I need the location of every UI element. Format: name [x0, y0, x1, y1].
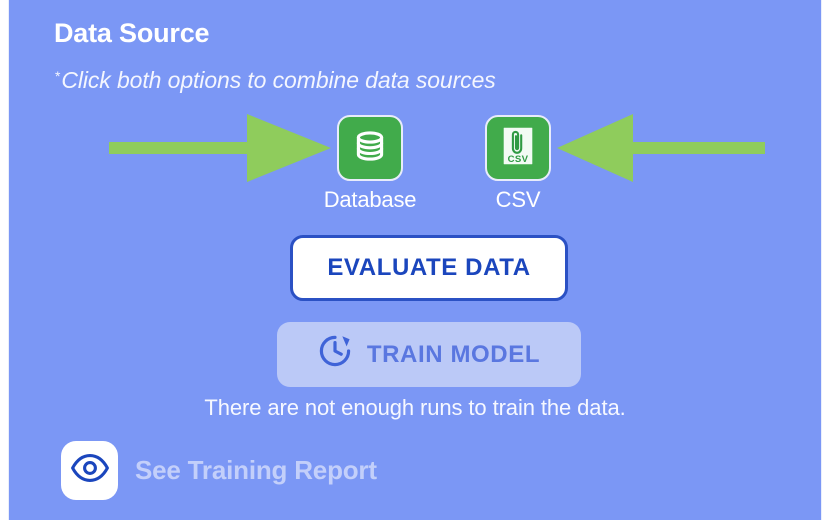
data-source-option-database[interactable]: Database	[303, 115, 437, 212]
train-model-button[interactable]: TRAIN MODEL	[277, 322, 581, 387]
arrow-right-icon	[109, 114, 331, 182]
data-source-option-csv[interactable]: CSV CSV	[454, 115, 582, 212]
see-training-report-label: See Training Report	[135, 455, 377, 486]
csv-file-icon: CSV	[501, 125, 535, 172]
data-source-panel: Data Source *Click both options to combi…	[8, 0, 822, 520]
clock-restore-icon	[318, 334, 352, 375]
eye-icon	[70, 453, 110, 488]
panel-subtitle-text: Click both options to combine data sourc…	[61, 67, 495, 93]
screen: Data Source *Click both options to combi…	[0, 0, 840, 520]
evaluate-data-button[interactable]: EVALUATE DATA	[290, 235, 568, 301]
csv-tile[interactable]: CSV	[485, 115, 551, 181]
panel-subtitle: *Click both options to combine data sour…	[55, 68, 496, 93]
see-training-report-link[interactable]: See Training Report	[61, 441, 377, 500]
evaluate-data-label: EVALUATE DATA	[327, 254, 530, 282]
asterisk-marker: *	[55, 68, 60, 84]
database-icon	[350, 126, 390, 171]
data-source-label-database: Database	[303, 188, 437, 212]
page-title: Data Source	[54, 19, 209, 49]
data-source-label-csv: CSV	[454, 188, 582, 212]
database-tile[interactable]	[337, 115, 403, 181]
train-model-label: TRAIN MODEL	[367, 341, 540, 369]
svg-text:CSV: CSV	[508, 154, 529, 165]
arrow-left-icon	[557, 114, 765, 182]
status-message: There are not enough runs to train the d…	[9, 396, 821, 420]
eye-icon-container[interactable]	[61, 441, 118, 500]
